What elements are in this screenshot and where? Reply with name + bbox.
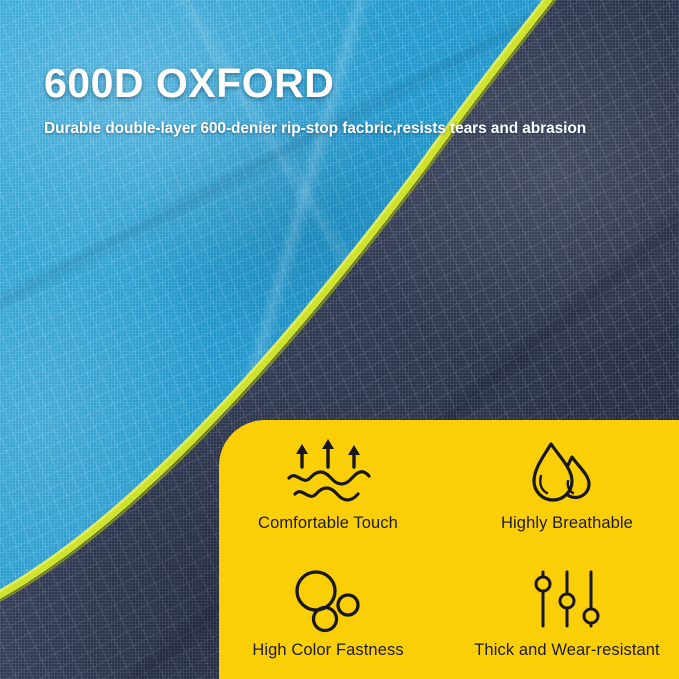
- color-bubbles-icon: [293, 570, 363, 628]
- feature-item-high-color-fastness: High Color Fastness: [219, 550, 449, 679]
- water-droplets-icon: [531, 443, 603, 501]
- page-title: 600D OXFORD: [44, 62, 334, 105]
- feature-item-highly-breathable: Highly Breathable: [449, 420, 679, 550]
- feature-label: Comfortable Touch: [258, 514, 398, 533]
- page-subtitle: Durable double-layer 600-denier rip-stop…: [44, 120, 586, 138]
- feature-item-comfortable-touch: Comfortable Touch: [219, 420, 449, 550]
- vertical-sliders-icon: [532, 570, 602, 628]
- product-feature-banner: 600D OXFORD Durable double-layer 600-den…: [0, 0, 679, 679]
- breathability-arrows-waves-icon: [285, 443, 371, 501]
- feature-label: High Color Fastness: [252, 641, 403, 660]
- feature-grid: Comfortable Touch: [219, 420, 679, 679]
- feature-panel: Comfortable Touch: [219, 420, 679, 679]
- feature-label: Highly Breathable: [501, 514, 633, 533]
- feature-label: Thick and Wear-resistant: [474, 641, 660, 660]
- feature-item-thick-wear-resistant: Thick and Wear-resistant: [449, 550, 679, 679]
